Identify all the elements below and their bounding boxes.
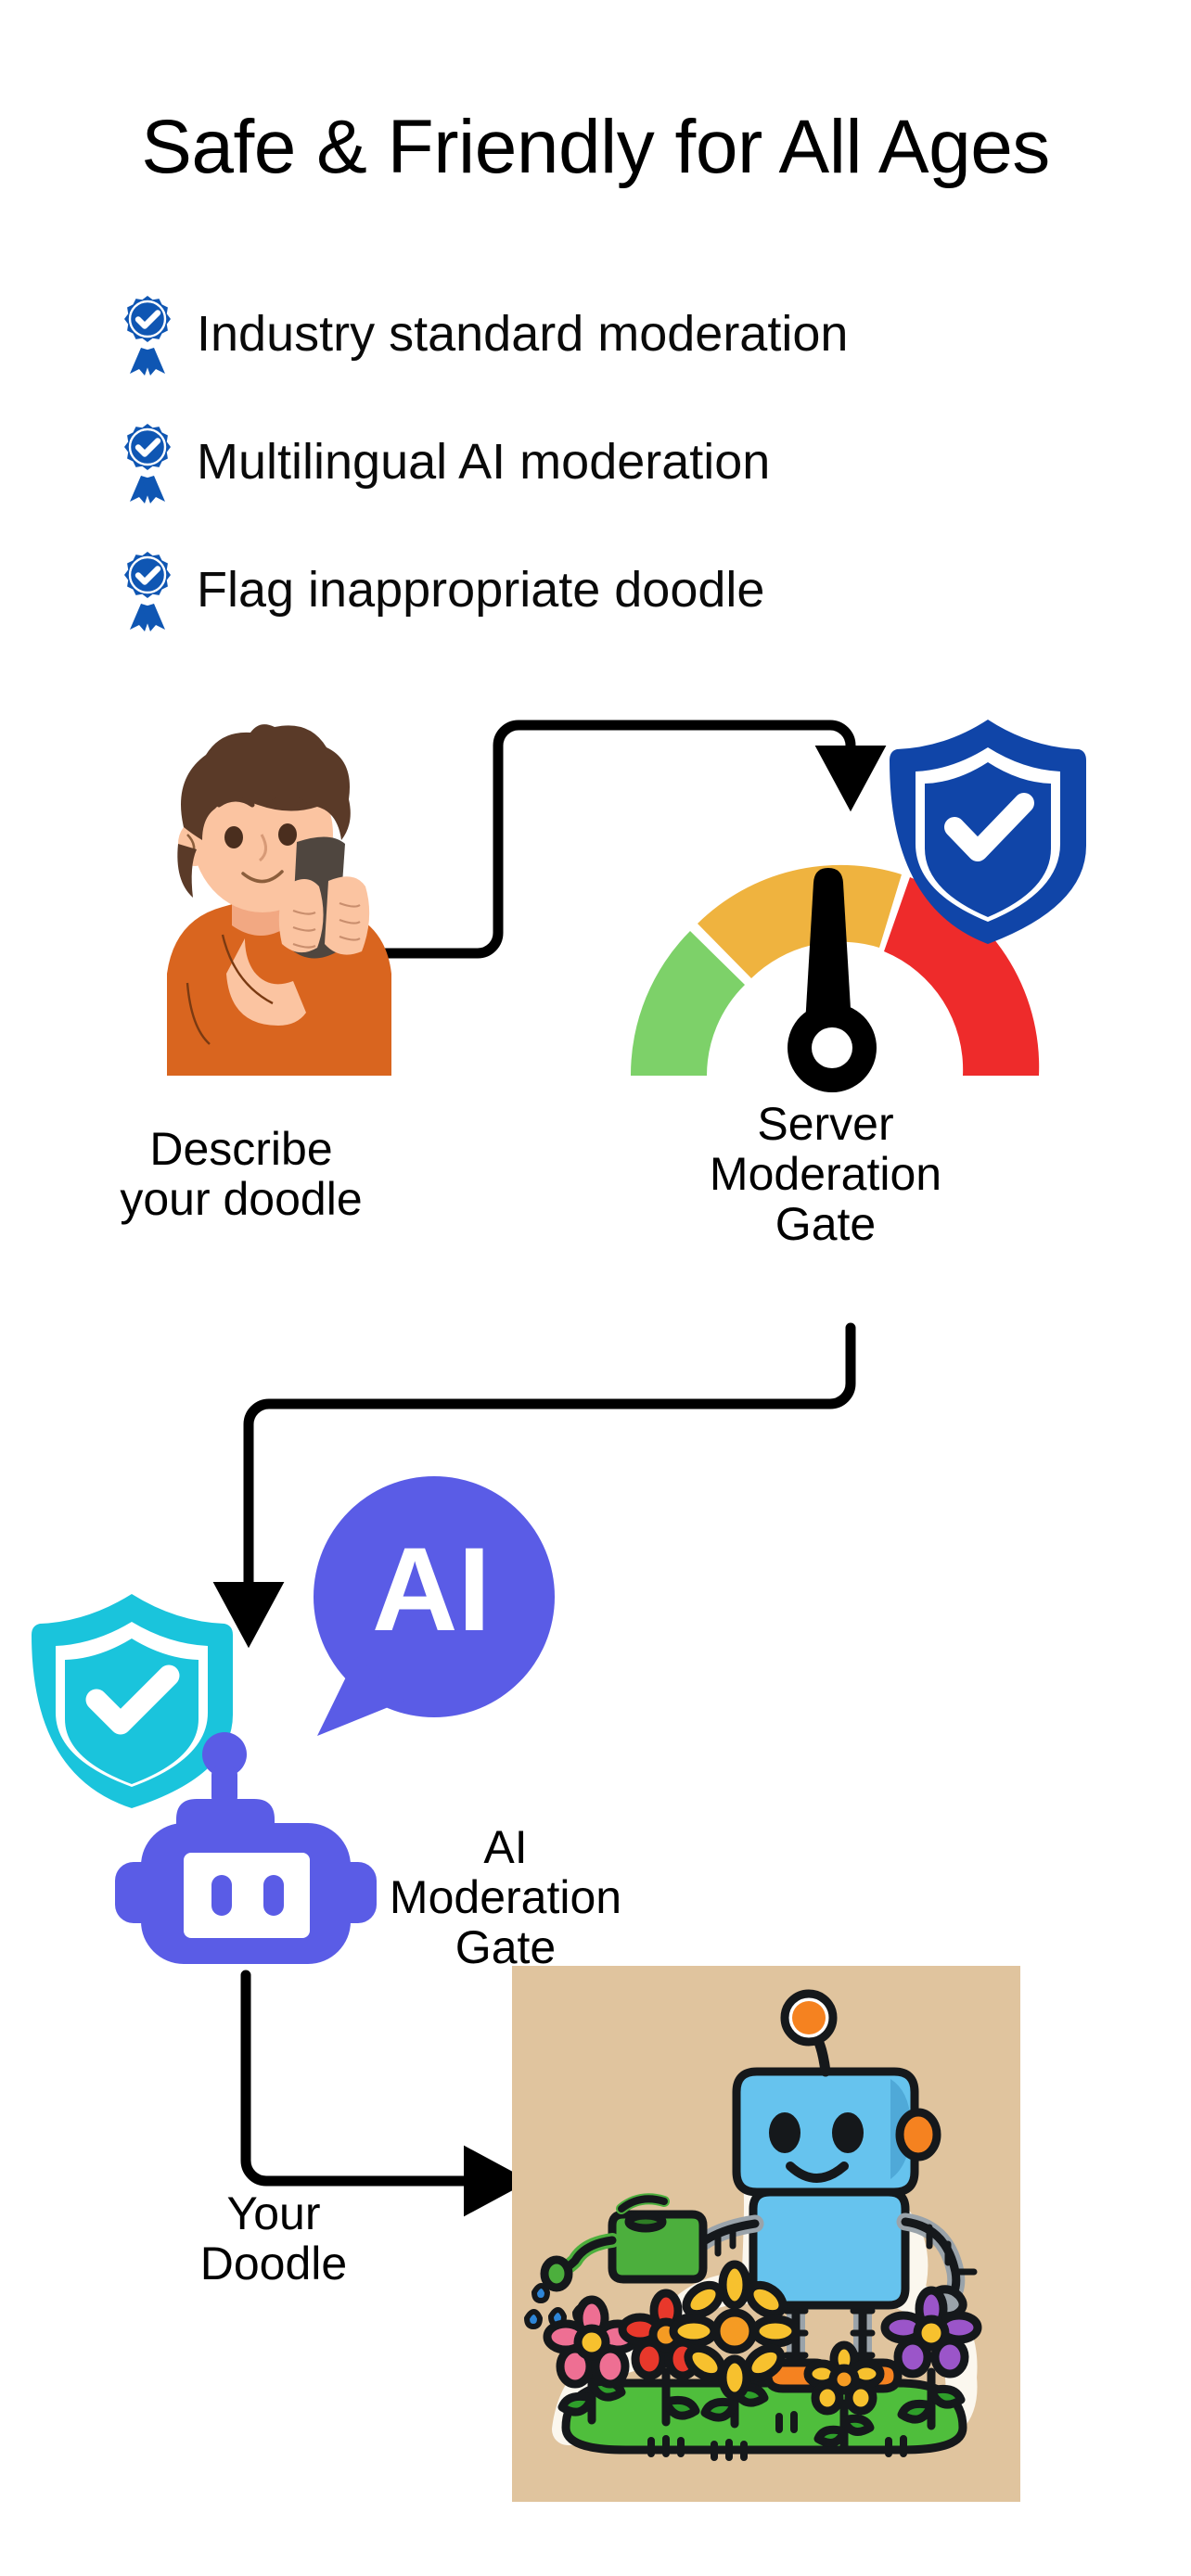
verified-badge-icon [119,550,176,630]
verified-badge-icon [119,294,176,374]
connector-ai-to-result [246,1975,486,2181]
step-label-line: Doodle [88,2238,459,2289]
step-label-line: AI [246,1822,765,1872]
gauge-segment-medium [698,865,902,978]
step-label-line: Moderation [686,1149,965,1199]
page-title: Safe & Friendly for All Ages [0,109,1191,185]
list-item: Multilingual AI moderation [119,415,1093,508]
step-label-line: Describe [37,1124,445,1174]
list-item-label: Flag inappropriate doodle [197,565,764,615]
step-label-line: Gate [246,1922,765,1972]
list-item: Flag inappropriate doodle [119,543,1093,636]
list-item-label: Multilingual AI moderation [197,437,770,487]
ai-speech-bubble: AI [297,1474,566,1753]
list-item-label: Industry standard moderation [197,309,848,359]
step-label-server-gate: Server Moderation Gate [686,1099,965,1249]
verified-badge-icon [119,422,176,502]
ai-bubble-label: AI [372,1524,491,1656]
blue-shield-check-icon [886,714,1090,946]
doodle-sticker-image [512,1966,1020,2502]
infographic-page: Safe & Friendly for All Ages Industry st… [0,0,1191,2576]
step-label-ai-gate: AI Moderation Gate [246,1822,765,1972]
list-item: Industry standard moderation [119,287,1093,380]
step-label-line: Your [88,2188,459,2238]
step-label-line: Server [686,1099,965,1149]
feature-list: Industry standard moderation Multilingua… [119,287,1093,671]
boy-with-phone-illustration [130,705,445,1076]
step-label-line: Gate [686,1199,965,1249]
step-label-describe: Describe your doodle [37,1124,445,1224]
step-label-result: Your Doodle [88,2188,459,2289]
step-label-line: your doodle [37,1174,445,1224]
step-label-line: Moderation [246,1872,765,1922]
